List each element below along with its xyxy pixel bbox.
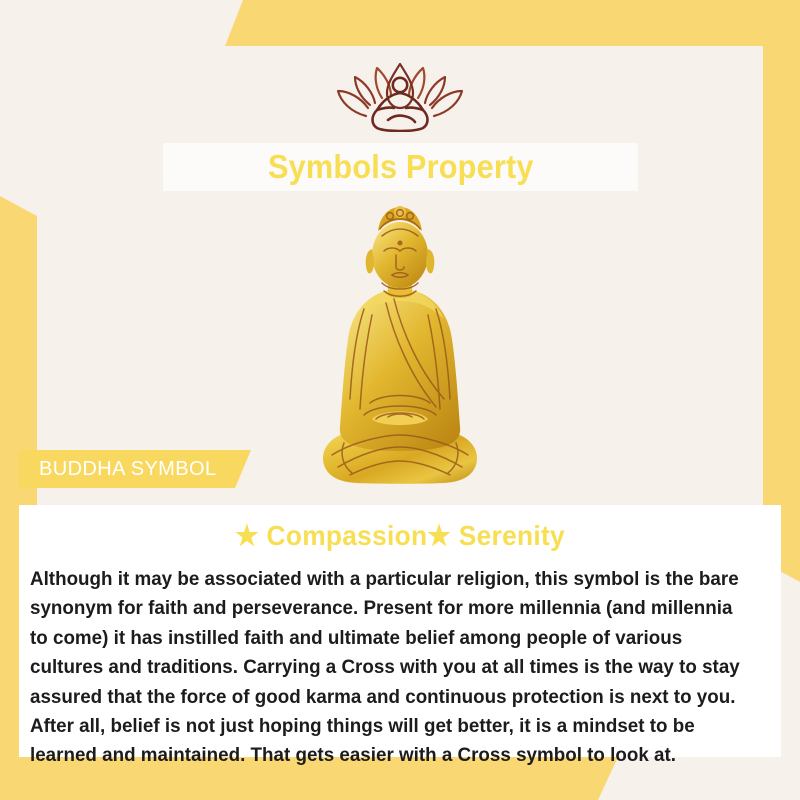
page-title: Symbols Property [268, 148, 534, 186]
content-subheading: ★ Compassion★ Serenity [42, 519, 758, 552]
decor-band-top [225, 0, 800, 46]
section-ribbon: BUDDHA SYMBOL [19, 450, 251, 488]
lotus-meditation-figure-icon [325, 58, 475, 132]
poster-root: BUDDHA STONES Symbols Property [0, 0, 800, 800]
golden-buddha-statue-icon [310, 203, 490, 501]
title-banner: Symbols Property [163, 143, 638, 191]
content-panel: ★ Compassion★ Serenity Although it may b… [19, 505, 781, 757]
ribbon-label: BUDDHA SYMBOL [19, 458, 216, 481]
content-paragraph: Although it may be associated with a par… [30, 565, 740, 771]
